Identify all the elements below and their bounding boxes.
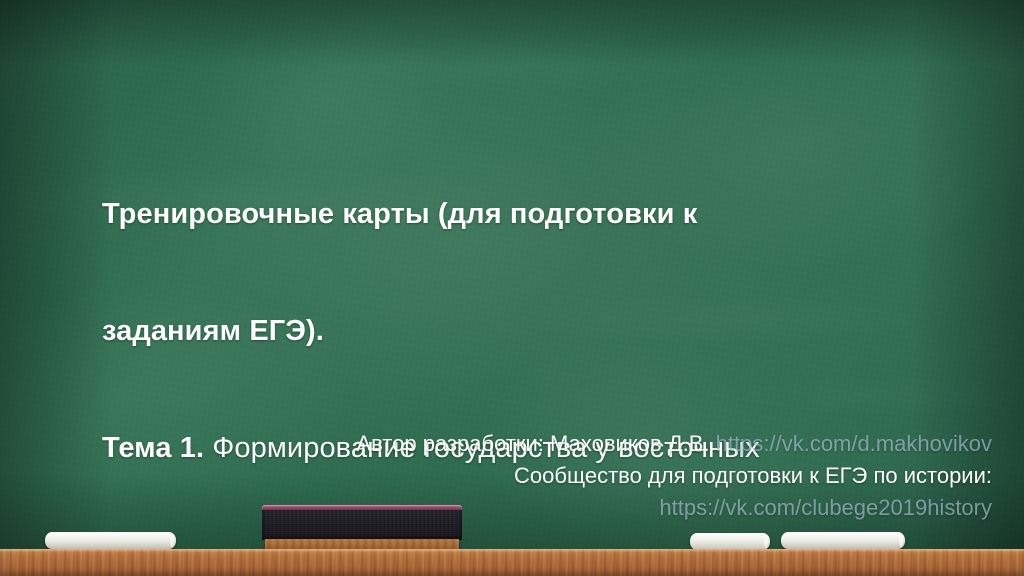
chalk-stick-right[interactable]: [781, 532, 905, 549]
eraser-felt-body: [262, 510, 462, 540]
chalkboard-slide: Тренировочные карты (для подготовки к за…: [0, 0, 1024, 576]
headline-line-1: Тренировочные карты (для подготовки к: [53, 156, 993, 273]
credit-line-author: Автор разработки: Маховиков Д.В. https:/…: [24, 428, 992, 460]
credit-block: Автор разработки: Маховиков Д.В. https:/…: [24, 428, 992, 524]
author-label: Автор разработки: Маховиков Д.В.: [356, 431, 709, 456]
blackboard-eraser[interactable]: [262, 505, 462, 550]
headline-line-2-text: заданиям ЕГЭ).: [102, 315, 324, 347]
community-label: Сообщество для подготовки к ЕГЭ по истор…: [514, 463, 992, 488]
community-link[interactable]: https://vk.com/clubege2019history: [659, 495, 992, 520]
wooden-chalk-ledge: [0, 549, 1024, 576]
chalk-stick-middle-right[interactable]: [690, 533, 770, 550]
author-profile-link[interactable]: https://vk.com/d.makhovikov: [716, 431, 992, 456]
headline-line-1-text: Тренировочные карты (для подготовки к: [102, 198, 697, 230]
ledge-top-highlight: [0, 549, 1024, 552]
chalk-stick-left[interactable]: [45, 532, 176, 549]
credit-line-community: Сообщество для подготовки к ЕГЭ по истор…: [24, 460, 992, 492]
headline-line-2: заданиям ЕГЭ).: [53, 273, 993, 390]
credit-line-community-link: https://vk.com/clubege2019history: [24, 492, 992, 524]
